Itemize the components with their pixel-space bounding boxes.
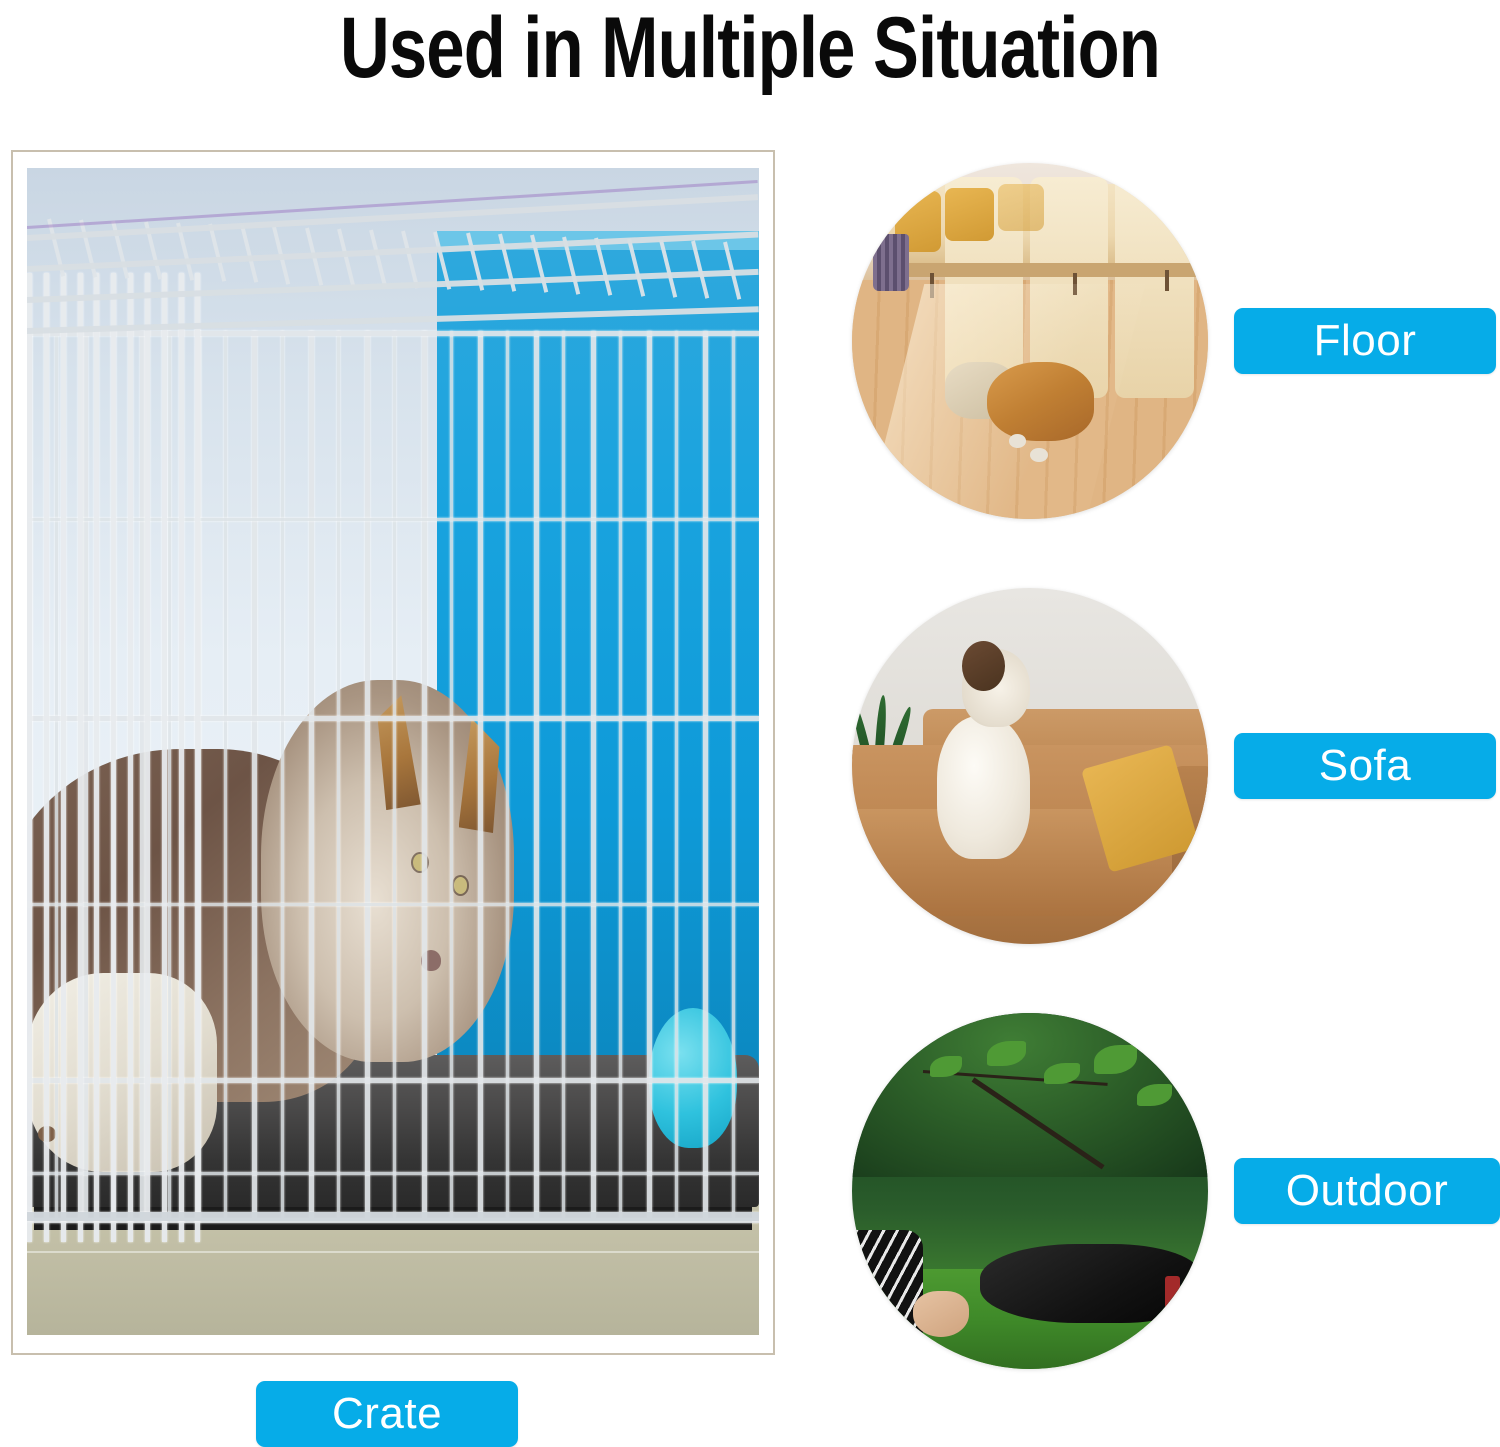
crate-wire-vertical <box>703 331 708 1218</box>
crate-lid-wire <box>627 238 645 296</box>
scene-outdoor-image <box>852 1013 1208 1369</box>
crate-wire-vertical <box>168 331 171 1218</box>
crate-lid-wire <box>595 237 613 295</box>
crate-wire-vertical <box>534 331 539 1218</box>
sofa-dog-ear-curl <box>962 641 1005 691</box>
crate-door-wire-vertical <box>195 273 200 1242</box>
crate-lid-wire <box>240 225 258 283</box>
crate-wire-vertical <box>252 331 257 1218</box>
badge-outdoor: Outdoor <box>1234 1158 1500 1224</box>
crate-wire-vertical <box>619 331 622 1218</box>
floor-dog-paw <box>1009 434 1027 448</box>
crate-door-wire-vertical <box>27 273 32 1242</box>
crate-wire-vertical <box>281 331 284 1218</box>
crate-wire-horizontal <box>27 903 759 906</box>
sofa-dog-body <box>937 716 1030 858</box>
badge-crate: Crate <box>256 1381 518 1447</box>
hero-crate-photo <box>27 168 759 1335</box>
scene-floor-image <box>852 163 1208 519</box>
scene-sofa <box>852 588 1208 944</box>
outdoor-person-hand <box>913 1291 970 1337</box>
crate-wire-vertical <box>506 331 509 1218</box>
crate-wire-vertical <box>675 331 678 1218</box>
floor-dog <box>987 362 1094 440</box>
crate-lid-wire <box>659 239 677 297</box>
crate-wire-horizontal <box>27 1172 759 1175</box>
floor-vase <box>873 234 909 291</box>
crate-wire-vertical <box>732 331 735 1218</box>
crate-lid-wire <box>401 230 419 288</box>
crate-wire-vertical <box>83 331 88 1218</box>
crate-wire-vertical <box>478 331 483 1218</box>
crate-door-wire-vertical <box>111 273 116 1242</box>
badge-sofa: Sofa <box>1234 733 1496 799</box>
scene-sofa-image <box>852 588 1208 944</box>
crate-wire-vertical <box>422 331 427 1218</box>
crate-wire-vertical <box>450 331 453 1218</box>
floor-sofa-pillow <box>945 188 995 241</box>
crate-wire-vertical <box>562 331 565 1218</box>
crate-wire-vertical <box>55 331 58 1218</box>
crate-door-wire-vertical <box>44 273 49 1242</box>
crate-door-wire-vertical <box>128 273 133 1242</box>
crate-wire-horizontal <box>27 1078 759 1083</box>
crate-lid-rail <box>27 306 759 334</box>
crate-door-wire-vertical <box>61 273 66 1242</box>
crate-wire-horizontal <box>27 716 759 721</box>
crate-wire-vertical <box>309 331 314 1218</box>
crate-wire-vertical <box>591 331 596 1218</box>
crate-wire-vertical <box>224 331 227 1218</box>
hero-crate-lid <box>27 168 759 390</box>
floor-sofa-leg <box>1165 270 1169 291</box>
crate-door-wire-vertical <box>78 273 83 1242</box>
crate-wire-vertical <box>365 331 370 1218</box>
floor-dog-paw <box>1030 448 1048 462</box>
crate-door-wire-vertical <box>179 273 184 1242</box>
crate-lid-rail <box>27 268 759 302</box>
crate-lid-wire <box>208 224 226 282</box>
scene-outdoor <box>852 1013 1208 1369</box>
badge-floor: Floor <box>1234 308 1496 374</box>
hero-photo-frame <box>11 150 775 1355</box>
crate-lid-rail <box>27 194 758 241</box>
crate-wire-vertical <box>337 331 340 1218</box>
outdoor-dog-collar <box>1165 1276 1179 1312</box>
crate-wire-horizontal <box>27 518 759 521</box>
crate-door-wire-vertical <box>94 273 99 1242</box>
outdoor-person-sleeve <box>852 1230 923 1337</box>
page-title: Used in Multiple Situation <box>150 0 1350 102</box>
crate-wire-vertical <box>647 331 652 1218</box>
floor-sofa-pillow <box>998 184 1044 230</box>
crate-wire-vertical <box>393 331 396 1218</box>
crate-door-wire-vertical <box>162 273 167 1242</box>
crate-frame-base <box>27 1212 759 1221</box>
floor-sofa-base <box>888 263 1201 277</box>
crate-lid-wire <box>369 229 387 287</box>
crate-lid-rail <box>27 231 758 271</box>
crate-lid-wire <box>691 240 709 298</box>
crate-door-wire-vertical <box>145 273 150 1242</box>
scene-floor <box>852 163 1208 519</box>
